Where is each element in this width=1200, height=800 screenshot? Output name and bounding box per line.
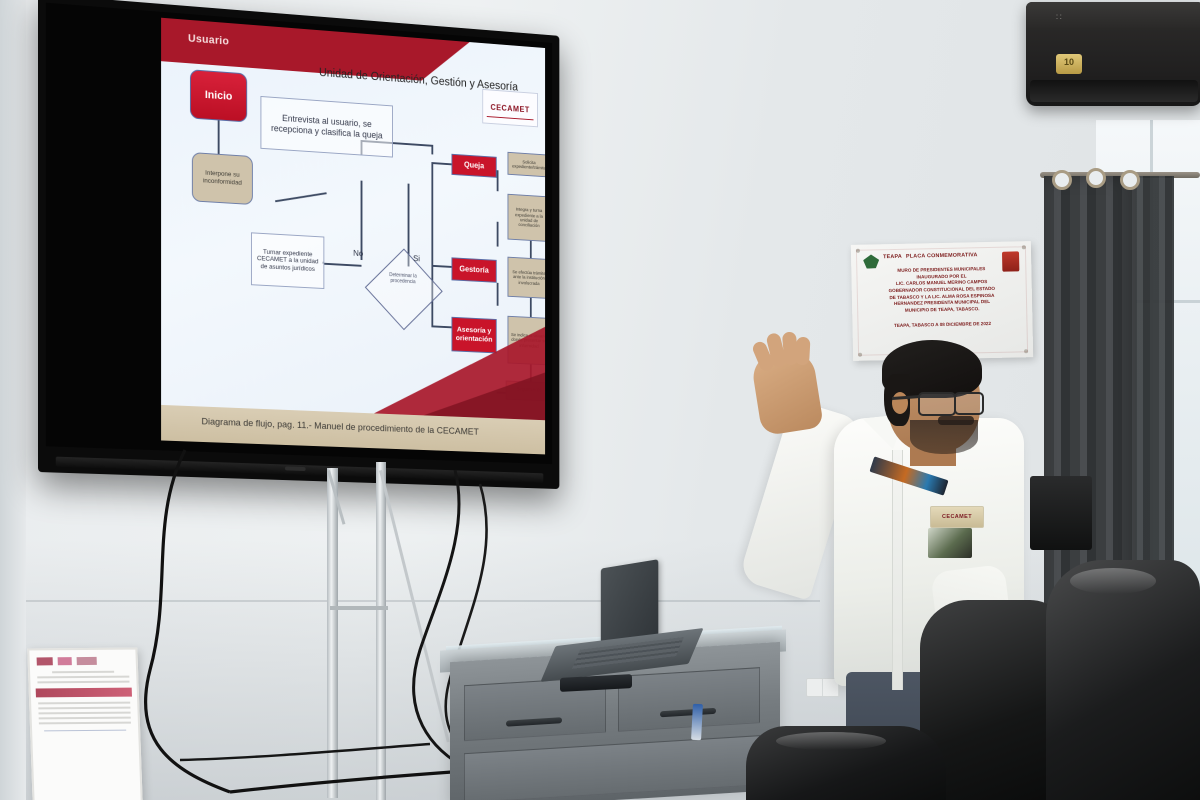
flow-branch-yes: Si	[413, 253, 420, 263]
flow-node-queja: Queja	[451, 154, 496, 178]
glasses-lens-icon	[954, 392, 984, 415]
finger	[795, 337, 810, 366]
curtain-grommet-icon	[1086, 168, 1106, 188]
plaque-title: PLACA CONMEMORATIVA	[906, 252, 978, 259]
flow-node-interpone: Interpone su inconformidad	[192, 152, 253, 205]
cecamet-logo: CECAMET	[482, 89, 538, 127]
ac-vent	[1030, 80, 1198, 102]
shirt-logo: CECAMET	[930, 506, 984, 528]
cabinet-lower-panel[interactable]	[464, 735, 760, 800]
flow-connector	[431, 145, 432, 155]
flow-node-turnar: Turnar expediente CECAMET a la unidad de…	[251, 232, 324, 289]
plaque-seal-icon	[1002, 251, 1019, 271]
presenter-beard	[910, 420, 978, 454]
flow-connector	[497, 222, 498, 247]
chair-highlight	[1070, 568, 1156, 594]
slide-footer-caption: Diagrama de flujo, pag. 11.- Manuel de p…	[201, 416, 478, 437]
flow-connector	[497, 283, 498, 306]
flow-node-entrevista: Entrevista al usuario, se recepciona y c…	[260, 96, 392, 158]
ac-warranty-badge: 10	[1056, 54, 1082, 74]
ac-brand-logo: ∷	[1056, 12, 1062, 23]
flow-node-asesoria: Asesoría y orientación	[451, 317, 496, 354]
flow-connector	[497, 170, 498, 191]
curtain-grommet-icon	[1120, 170, 1140, 190]
presentation-slide: Usuario Unidad de Orientación, Gestión y…	[161, 18, 545, 455]
office-chair[interactable]	[746, 726, 946, 800]
slide-banner-label: Usuario	[188, 33, 229, 48]
office-chair[interactable]	[1046, 560, 1200, 800]
tv-screen: Usuario Unidad de Orientación, Gestión y…	[46, 3, 552, 465]
flow-branch-no: No	[353, 248, 363, 258]
flow-node-solicita: Solicita expediente/trámite	[507, 152, 545, 178]
logo-bar	[487, 116, 534, 121]
plaque-crest-icon	[863, 254, 879, 268]
flow-connector	[218, 120, 220, 153]
plaque-org: TEAPA	[883, 254, 902, 260]
cabinet-drawer[interactable]	[618, 667, 760, 732]
flow-node-integra: Integra y turna expediente a la unidad d…	[507, 194, 545, 242]
presenter-raised-hand	[750, 348, 824, 437]
flow-node-inicio: Inicio	[190, 69, 247, 122]
ac-top-panel	[1026, 2, 1200, 28]
air-conditioner: ∷ 10	[1026, 2, 1200, 106]
presenter-moustache	[938, 416, 974, 425]
curtain-grommet-icon	[1052, 170, 1072, 190]
flow-node-gestoria: Gestoría	[451, 257, 496, 282]
presentation-room-photo: ∷ 10 TEAPA PLACA CONMEMORATIVA MURO DE P…	[0, 0, 1200, 800]
chair-highlight	[776, 732, 886, 750]
glasses-lens-icon	[918, 392, 956, 416]
shirt-placket	[892, 450, 903, 690]
flow-node-efectua: Se efectúa trámite ante la institución i…	[507, 257, 545, 299]
cecamet-logo-text: CECAMET	[490, 102, 529, 113]
pocket-badge	[928, 528, 972, 558]
cabinet-key-fob[interactable]	[691, 704, 703, 740]
flow-connector	[431, 162, 432, 327]
television: Usuario Unidad de Orientación, Gestión y…	[38, 0, 559, 489]
